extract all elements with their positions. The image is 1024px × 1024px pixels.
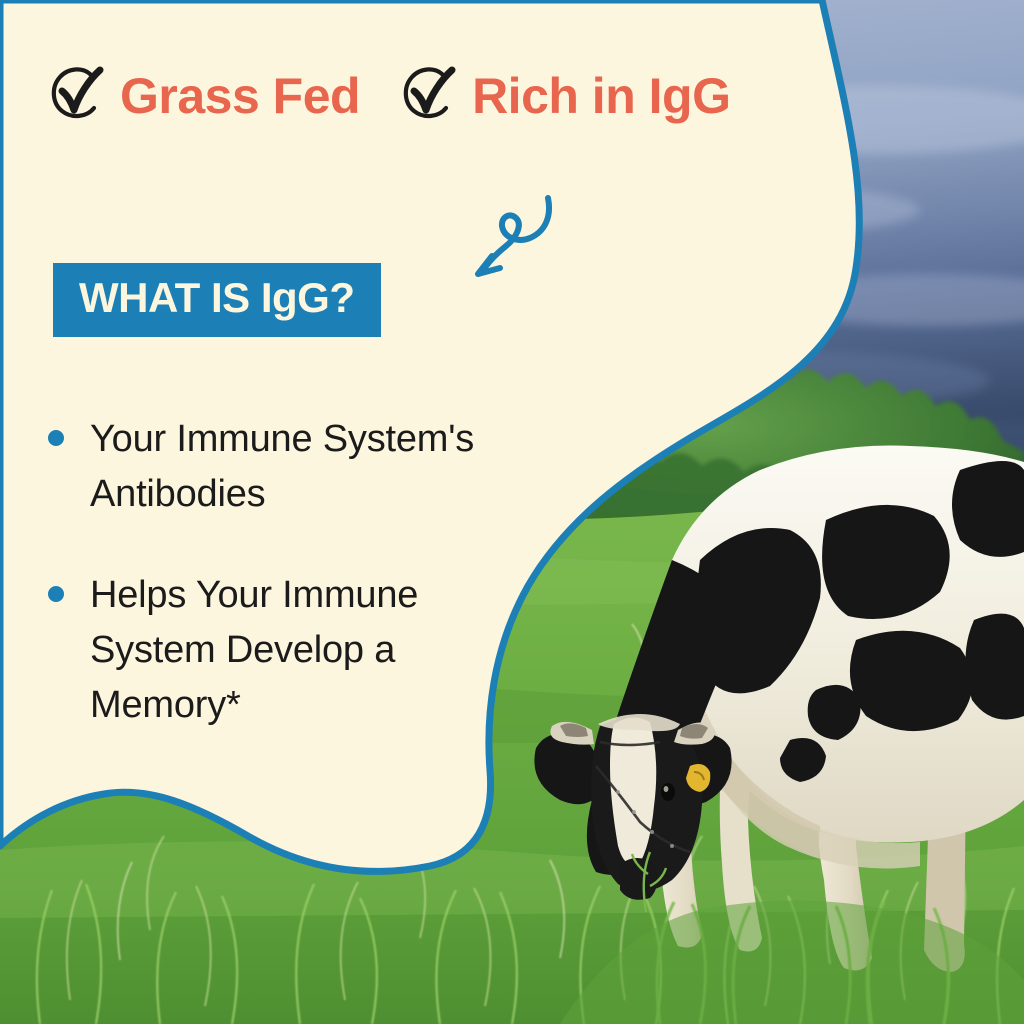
feature-badge-row: Grass Fed Rich in IgG	[48, 64, 730, 128]
check-circle-icon	[400, 64, 458, 128]
list-item: Your Immune System's Antibodies	[48, 412, 488, 522]
feature-badge-grass-fed: Grass Fed	[48, 64, 360, 128]
section-heading-label: WHAT IS IgG?	[79, 277, 355, 319]
promotional-graphic: Grass Fed Rich in IgG WHAT IS IgG? Yo	[0, 0, 1024, 1024]
feature-badge-rich-in-igg: Rich in IgG	[400, 64, 730, 128]
list-item: Helps Your Immune System Develop a Memor…	[48, 568, 488, 733]
section-heading-banner: WHAT IS IgG?	[53, 263, 381, 337]
list-item-label: Your Immune System's Antibodies	[90, 412, 488, 522]
curly-arrow-down-left-icon	[466, 192, 570, 288]
check-circle-icon	[48, 64, 106, 128]
bullet-dot-icon	[48, 430, 64, 446]
list-item-label: Helps Your Immune System Develop a Memor…	[90, 568, 488, 733]
feature-badge-label: Rich in IgG	[472, 71, 730, 121]
feature-badge-label: Grass Fed	[120, 71, 360, 121]
benefit-list: Your Immune System's Antibodies Helps Yo…	[48, 412, 488, 779]
bullet-dot-icon	[48, 586, 64, 602]
